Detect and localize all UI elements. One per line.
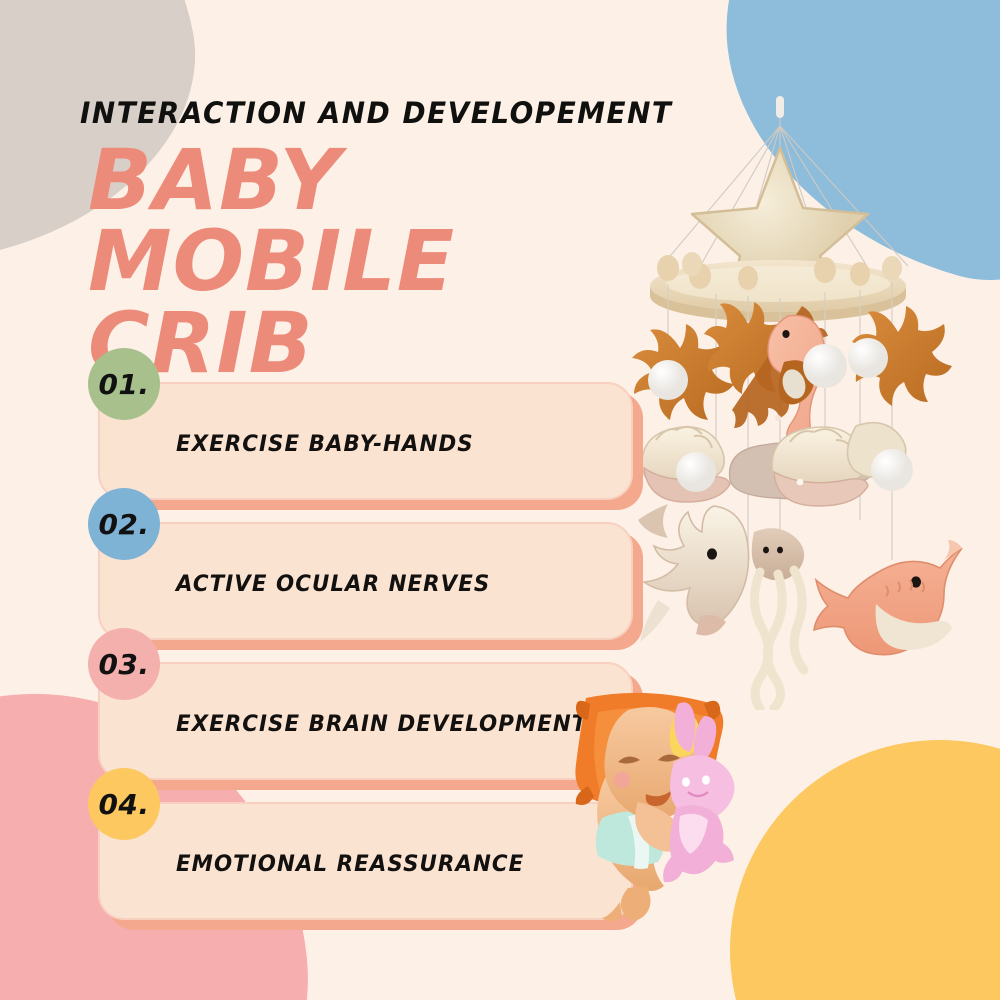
benefit-label-2: ACTIVE OCULAR NERVES — [176, 572, 490, 597]
benefit-card-1[interactable]: 01. EXERCISE BABY-HANDS — [98, 382, 633, 500]
benefit-label-3: EXERCISE BRAIN DEVELOPMENT — [176, 712, 587, 737]
benefit-card-2[interactable]: 02. ACTIVE OCULAR NERVES — [98, 522, 633, 640]
benefit-badge-2: 02. — [88, 488, 160, 560]
benefits-list: 01. EXERCISE BABY-HANDS 02. ACTIVE OCULA… — [0, 0, 1000, 1000]
benefit-badge-2-number: 02. — [98, 508, 149, 541]
benefit-label-4: EMOTIONAL REASSURANCE — [176, 852, 524, 877]
benefit-badge-4-number: 04. — [98, 788, 149, 821]
benefit-badge-4: 04. — [88, 768, 160, 840]
poster-canvas: INTERACTION AND DEVELOPEMENT BABY MOBILE… — [0, 0, 1000, 1000]
benefit-label-1: EXERCISE BABY-HANDS — [176, 432, 474, 457]
sleeping-baby-illustration — [528, 690, 768, 950]
benefit-badge-1-number: 01. — [98, 368, 149, 401]
benefit-badge-3-number: 03. — [98, 648, 149, 681]
benefit-badge-3: 03. — [88, 628, 160, 700]
benefit-badge-1: 01. — [88, 348, 160, 420]
